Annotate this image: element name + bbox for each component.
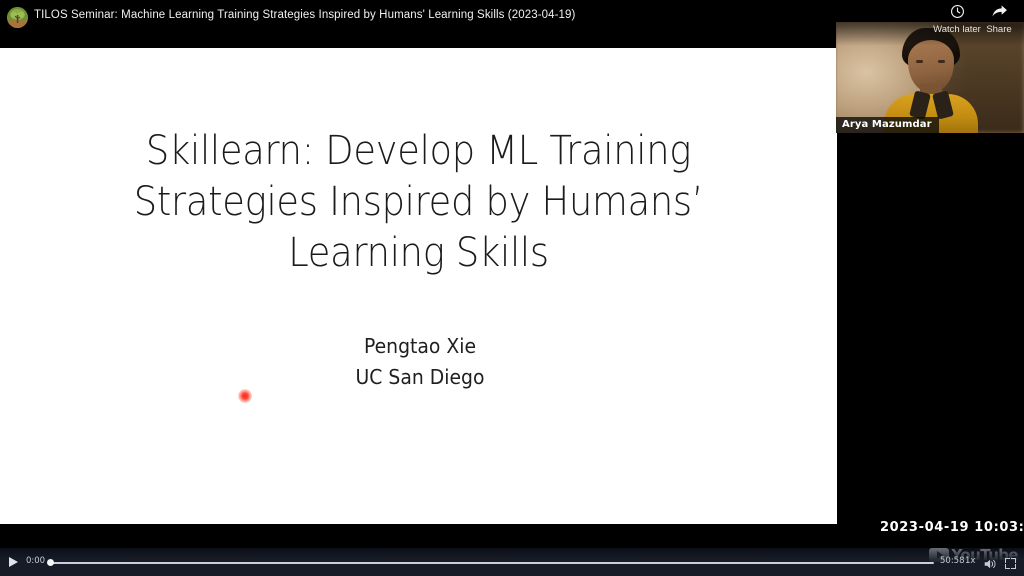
recording-timestamp: 2023-04-19 10:03:55	[880, 520, 1024, 535]
slide-affiliation: UC San Diego	[223, 362, 618, 393]
share-arrow-icon	[970, 4, 1024, 20]
slide-title: Skillearn: Develop ML Training Strategie…	[89, 126, 749, 280]
progress-track[interactable]	[50, 562, 934, 565]
progress-handle[interactable]	[47, 559, 54, 566]
current-time-label: 0:00	[26, 556, 45, 566]
player-top-bar: TILOS Seminar: Machine Learning Training…	[0, 0, 1024, 46]
laser-pointer-icon	[238, 389, 252, 403]
participant-name-badge: Arya Mazumdar	[836, 117, 939, 133]
youtube-video-player[interactable]: Skillearn: Develop ML Training Strategie…	[0, 0, 1024, 576]
slide-presenter-name: Pengtao Xie	[223, 331, 618, 362]
slide-presenter-block: Pengtao Xie UC San Diego	[223, 331, 618, 393]
play-icon	[9, 557, 18, 567]
fullscreen-icon[interactable]	[1005, 558, 1016, 569]
share-label: Share	[970, 24, 1024, 35]
share-button[interactable]: Share	[970, 4, 1024, 35]
play-button[interactable]	[5, 554, 21, 570]
video-title[interactable]: TILOS Seminar: Machine Learning Training…	[34, 9, 575, 21]
duration-label: 50:58	[940, 556, 965, 566]
progress-bar[interactable]	[44, 560, 934, 565]
tree-logo-icon[interactable]	[7, 7, 28, 28]
playback-speed-button[interactable]: 1x	[965, 556, 975, 566]
person-eye-right	[938, 60, 945, 63]
person-eye-left	[916, 60, 923, 63]
volume-icon[interactable]	[984, 557, 997, 569]
player-controls-bar[interactable]: 0:00 50:58 1x	[0, 548, 1024, 576]
presentation-slide: Skillearn: Develop ML Training Strategie…	[0, 48, 837, 524]
